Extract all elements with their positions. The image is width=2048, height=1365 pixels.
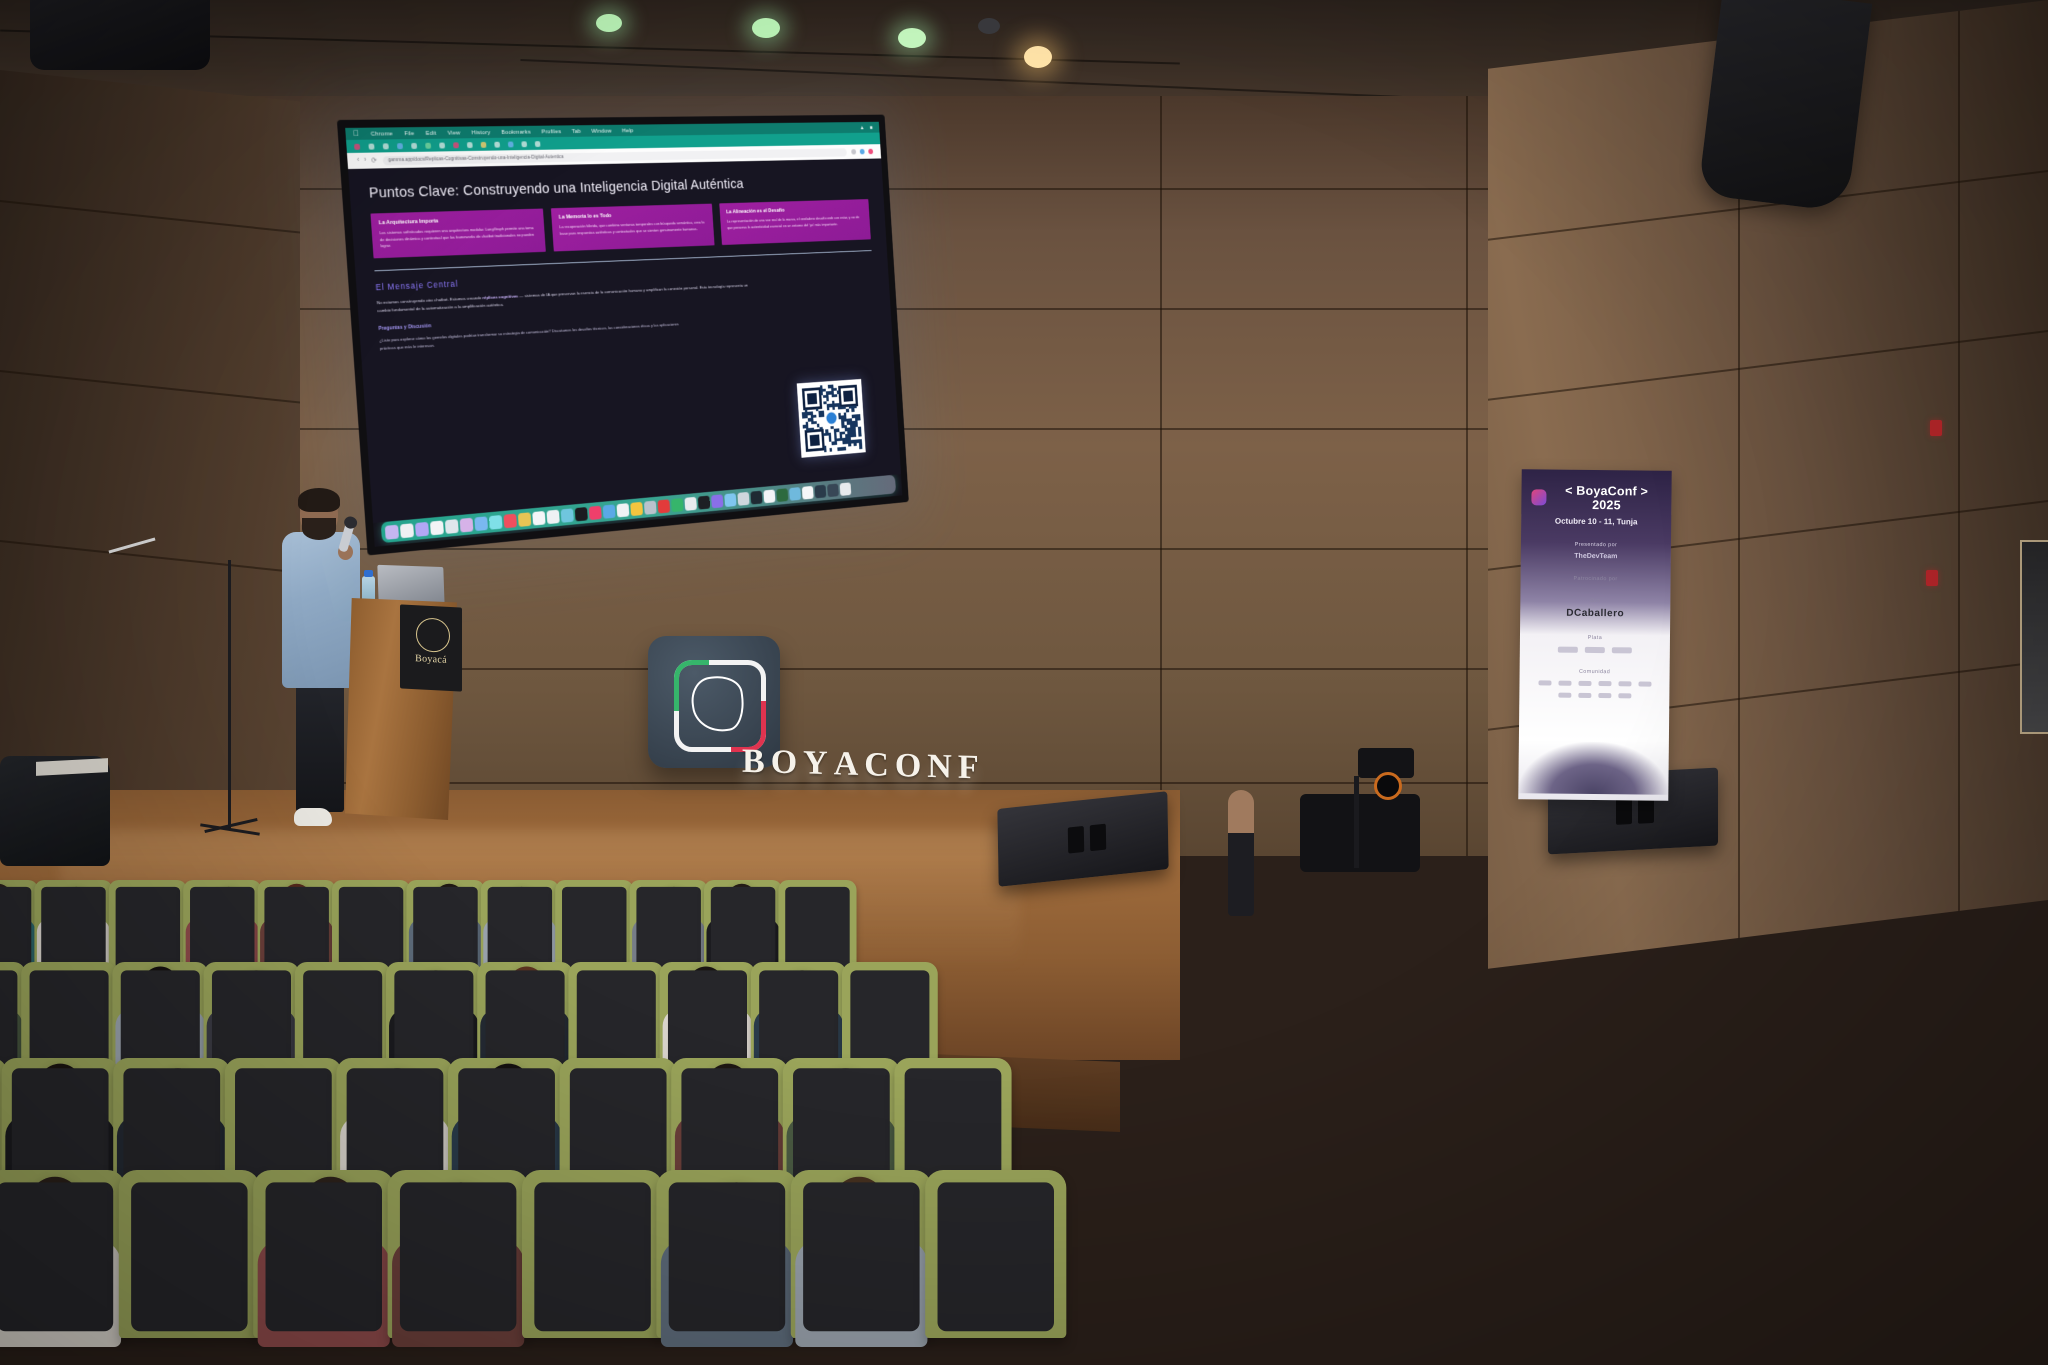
dock-app-icon[interactable] [532, 510, 545, 525]
auditorium-seat [119, 1170, 260, 1338]
raised-hand [1228, 790, 1254, 916]
tab-favicon[interactable] [508, 141, 514, 147]
tab-favicon[interactable] [397, 143, 403, 149]
banner-date: Octubre 10 - 11, Tunja [1531, 516, 1661, 526]
community-logo [1598, 681, 1611, 686]
sponsor-logo [1585, 647, 1605, 653]
community-logo [1558, 693, 1571, 698]
auditorium-seat [0, 880, 38, 973]
dock-app-icon[interactable] [518, 512, 531, 527]
banner-title: < BoyaConf > 2025 [1552, 484, 1662, 513]
tab-favicon[interactable] [354, 143, 360, 149]
community-logo [1578, 693, 1591, 698]
auditorium-seat [183, 880, 261, 973]
tab-favicon[interactable] [368, 143, 374, 149]
wifi-icon[interactable]: ▲ [860, 124, 865, 130]
podium-wordmark: Boyacá [400, 652, 462, 666]
audience-member-head [149, 1068, 206, 1134]
banner-header: < BoyaConf > 2025 [1531, 483, 1661, 512]
presenter-legs [296, 682, 344, 812]
photographer-with-camera [1330, 748, 1450, 868]
audience-row [0, 880, 853, 973]
line-array-speaker-right [1698, 0, 1872, 212]
dock-app-icon[interactable] [763, 489, 775, 503]
audience-member-torso [258, 1239, 390, 1347]
auditorium-seat [332, 880, 410, 973]
qr-module [852, 408, 855, 411]
menu-item-profiles[interactable]: Profiles [541, 128, 561, 135]
fire-alarm-pull [1926, 570, 1938, 586]
reload-icon[interactable]: ⟳ [371, 157, 377, 165]
dock-app-icon[interactable] [789, 487, 801, 501]
dock-app-icon[interactable] [802, 485, 814, 499]
warm-spotlight [1024, 46, 1052, 68]
dock-app-icon[interactable] [445, 519, 459, 534]
audience-member-head [779, 970, 825, 1024]
dock-app-icon[interactable] [400, 523, 414, 538]
audience-member-head [280, 884, 313, 924]
qr-module [859, 433, 862, 436]
auditorium-seat [791, 1170, 932, 1338]
qr-module [811, 427, 814, 430]
audience-member-head [503, 887, 541, 931]
line-array-speaker-left [30, 0, 210, 70]
audience-member-torso [661, 1239, 793, 1347]
qr-module [837, 390, 840, 393]
auditorium-seat [778, 880, 856, 973]
audience-row [0, 1170, 1060, 1338]
community-logo [1578, 681, 1591, 686]
tab-favicon[interactable] [481, 141, 487, 147]
dock-app-icon[interactable] [589, 505, 602, 519]
dock-app-icon[interactable] [603, 504, 616, 518]
stage-letter: C [864, 748, 889, 783]
banner-silver-label: Plata [1530, 634, 1660, 641]
dock-app-icon[interactable] [503, 513, 517, 528]
presenter-hair [298, 488, 340, 512]
qr-module [832, 407, 835, 410]
sponsor-logo [1558, 647, 1578, 653]
auditorium-seat [34, 880, 112, 973]
qr-module [820, 427, 823, 430]
slide-card: La Memoria lo es Todo La recuperación hí… [551, 204, 714, 252]
auditorium-seat [630, 880, 708, 973]
audience-member-head [0, 884, 15, 924]
qr-module [859, 446, 862, 449]
dock-app-icon[interactable] [750, 490, 762, 504]
stage-letter: Y [803, 746, 828, 781]
sponsor-logo [1612, 647, 1632, 653]
dock-app-icon[interactable] [671, 498, 684, 512]
auditorium-seat [481, 880, 559, 973]
audience-member-torso [392, 1239, 524, 1347]
menu-item-chrome[interactable]: Chrome [371, 130, 394, 137]
qr-module [854, 405, 857, 408]
qr-module [848, 444, 851, 447]
conference-photo-scene:  Chrome File Edit View History Bookmark… [0, 0, 2048, 1365]
dock-app-icon[interactable] [711, 494, 723, 508]
dock-app-icon[interactable] [489, 514, 503, 529]
back-arrow-icon[interactable]: ‹ [357, 157, 360, 165]
auditorium-seat [406, 880, 484, 973]
framed-artwork [2020, 540, 2048, 734]
audience-member-head [35, 1064, 85, 1124]
auditorium-seat [555, 880, 633, 973]
extension-icon[interactable] [860, 149, 865, 154]
qr-code[interactable] [797, 379, 866, 458]
dock-app-icon[interactable] [657, 499, 670, 513]
banner-sponsored-label: Patrocinado por [1531, 575, 1661, 582]
presenter-beard [302, 518, 336, 540]
dock-app-icon[interactable] [546, 509, 559, 524]
banner-community-logos [1529, 680, 1659, 698]
fire-alarm-strobe [1930, 420, 1942, 436]
banner-community-label: Comunidad [1530, 668, 1660, 675]
slide-card: La Arquitectura Importa Los sistemas sof… [370, 209, 546, 259]
qr-module [846, 409, 849, 412]
auditorium-seat [925, 1170, 1066, 1338]
community-logo [1618, 681, 1631, 686]
auditorium-seat [0, 1170, 126, 1338]
community-logo [1638, 681, 1651, 686]
audience-member-head [702, 1182, 770, 1262]
dock-app-icon[interactable] [385, 524, 399, 539]
qr-module [853, 434, 856, 437]
stage-letter: A [834, 747, 859, 782]
tab-favicon[interactable] [439, 142, 445, 148]
audience-member-head [432, 884, 465, 924]
stage-letter: O [771, 745, 797, 780]
dock-app-icon[interactable] [474, 516, 488, 531]
menu-item-view[interactable]: View [447, 129, 461, 136]
dock-app-icon[interactable] [630, 501, 643, 515]
dock-app-icon[interactable] [814, 484, 826, 498]
audience-member-head [685, 967, 726, 1016]
audience-member-head [506, 967, 547, 1016]
qr-module [854, 443, 857, 446]
audience-member-head [300, 1177, 360, 1249]
audience-member-head [703, 1064, 753, 1124]
audience-member-torso [795, 1239, 927, 1347]
boyaconf-stage-letters: BOYACONF [742, 745, 979, 786]
qr-module [834, 394, 837, 397]
card-title: La Alineación es el Desafío [726, 206, 863, 216]
stage-letter: N [927, 750, 952, 785]
dock-app-icon[interactable] [415, 521, 429, 536]
auditorium-seat [253, 1170, 394, 1338]
community-logo [1618, 693, 1631, 698]
qr-module [826, 398, 829, 401]
warm-spotlight [978, 18, 1000, 34]
forward-arrow-icon[interactable]: › [364, 157, 367, 165]
green-downlight [596, 14, 622, 32]
slide-heading: Puntos Clave: Construyendo una Inteligen… [368, 173, 867, 202]
tab-favicon[interactable] [383, 143, 389, 149]
auditorium-seat [522, 1170, 663, 1338]
qr-center-logo [824, 410, 838, 426]
qr-module [824, 449, 827, 452]
tab-favicon[interactable] [411, 142, 417, 148]
audience-member-head [25, 1177, 85, 1249]
dock-app-icon[interactable] [561, 508, 574, 523]
dock-app-icon[interactable] [840, 482, 852, 496]
dock-app-icon[interactable] [827, 483, 839, 497]
presentation-slide: Puntos Clave: Construyendo una Inteligen… [348, 158, 901, 523]
audience-member-head [57, 887, 95, 931]
camera-lens-icon [1374, 772, 1402, 800]
audience-member-torso [0, 1239, 121, 1347]
audience-member-head [0, 967, 1, 1016]
crest-icon [416, 617, 450, 653]
message-bold: réplicas cognitivas [482, 294, 518, 301]
audience-member-head [725, 884, 758, 924]
microphone-stand [228, 560, 231, 830]
qr-module [858, 417, 861, 420]
slide-card-group: La Arquitectura Importa Los sistemas sof… [370, 199, 870, 258]
tab-favicon[interactable] [494, 141, 500, 147]
banner-presented-by: TheDevTeam [1531, 552, 1661, 560]
banner-main-sponsor: DCaballero [1530, 607, 1660, 619]
green-downlight [752, 18, 780, 38]
auditorium-seat [388, 1170, 529, 1338]
event-banner: < BoyaConf > 2025 Octubre 10 - 11, Tunja… [1518, 469, 1671, 801]
dock-app-icon[interactable] [684, 496, 697, 510]
community-logo [1538, 680, 1551, 685]
community-logo [1598, 693, 1611, 698]
monitor-handle [1068, 826, 1084, 854]
menu-item-tab[interactable]: Tab [571, 128, 581, 135]
menu-item-bookmarks[interactable]: Bookmarks [501, 128, 531, 135]
tripod-pole [1354, 776, 1359, 868]
stage-letter: F [958, 751, 979, 786]
tab-favicon[interactable] [425, 142, 431, 148]
qr-module [813, 415, 816, 418]
qr-module [843, 447, 846, 450]
audience-member-head [140, 967, 181, 1016]
green-downlight [898, 28, 926, 48]
stage-letter: O [895, 749, 921, 784]
qr-module [829, 448, 832, 451]
audience-member-head [427, 1182, 495, 1262]
menu-item-edit[interactable]: Edit [425, 129, 436, 136]
projection-screen:  Chrome File Edit View History Bookmark… [345, 122, 902, 547]
card-body: La representación de una voz real de la … [727, 215, 864, 231]
qr-code-grid [800, 383, 862, 454]
dock-app-icon[interactable] [698, 495, 710, 509]
community-logo [1558, 681, 1571, 686]
screen-content:  Chrome File Edit View History Bookmark… [345, 122, 902, 547]
camera-case [1300, 794, 1420, 872]
qr-module [834, 442, 837, 445]
dock-app-icon[interactable] [460, 517, 474, 532]
stage-letter: B [742, 745, 765, 780]
audience-member-head [817, 1068, 874, 1134]
audience-member-head [233, 970, 279, 1024]
slide-card: La Alineación es el Desafío La represent… [719, 199, 871, 245]
menu-item-history[interactable]: History [471, 129, 490, 136]
dock-app-icon[interactable] [737, 491, 749, 505]
menu-item-window[interactable]: Window [591, 127, 612, 134]
puzzle-icon[interactable] [851, 149, 856, 154]
banner-presented-label: Presentado por [1531, 541, 1661, 548]
auditorium-seat [109, 880, 187, 973]
monitor-handle [1638, 797, 1654, 824]
dock-app-icon[interactable] [776, 488, 788, 502]
audience-member-head [483, 1064, 533, 1124]
tab-favicon[interactable] [453, 142, 459, 148]
dock-app-icon[interactable] [644, 500, 657, 514]
apple-icon[interactable]:  [353, 130, 360, 138]
auditorium-seat [656, 1170, 797, 1338]
podium-front-plaque: Boyacá [400, 604, 462, 691]
audience-member-head [655, 887, 693, 931]
tab-favicon[interactable] [535, 141, 541, 147]
qr-module [822, 414, 825, 417]
banner-crowd-graphic [1518, 741, 1669, 795]
card-title: La Memoria lo es Todo [559, 211, 706, 221]
audience-member-head [210, 887, 248, 931]
audience-member-head [413, 970, 459, 1024]
menu-item-help[interactable]: Help [622, 127, 634, 134]
card-body: La recuperación híbrida, que combina ven… [559, 220, 706, 237]
dock-app-icon[interactable] [616, 503, 629, 517]
boyaconf-logo [1531, 489, 1546, 505]
auditorium-seat [258, 880, 336, 973]
menu-item-file[interactable]: File [404, 130, 415, 137]
audience-member-head [829, 1177, 889, 1249]
banner-gold-label: Oro [1530, 597, 1660, 604]
tab-favicon[interactable] [467, 142, 473, 148]
card-body: Los sistemas sofisticados requieren una … [379, 225, 538, 249]
monitor-handle [1616, 798, 1632, 825]
profile-avatar-icon[interactable] [868, 149, 873, 154]
dock-app-icon[interactable] [575, 507, 588, 521]
tab-favicon[interactable] [521, 141, 527, 147]
qr-module [827, 407, 830, 410]
card-title: La Arquitectura Importa [379, 216, 537, 227]
monitor-handle [1090, 824, 1106, 852]
battery-icon[interactable]: ■ [870, 124, 873, 130]
presenter-shoe [294, 808, 332, 826]
dock-app-icon[interactable] [724, 493, 736, 507]
audience-member-head [369, 1068, 426, 1134]
auditorium-seat [704, 880, 782, 973]
banner-silver-logos [1530, 646, 1660, 653]
dock-app-icon[interactable] [430, 520, 444, 535]
